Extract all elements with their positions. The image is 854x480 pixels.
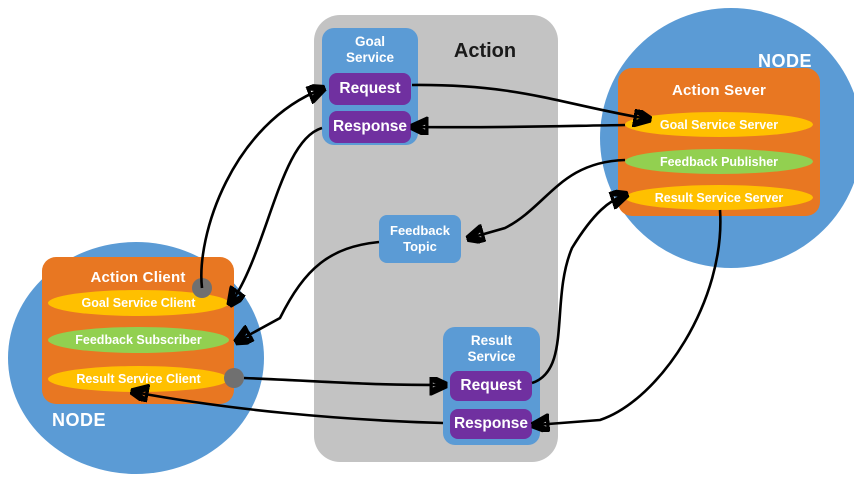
result-service-server-pill[interactable]: Result Service Server: [625, 185, 813, 210]
result-service-title: Result Service: [443, 333, 540, 365]
result-service-title-line2: Service: [467, 349, 515, 364]
feedback-topic-line2: Topic: [403, 239, 437, 255]
client-result-junction-dot: [224, 368, 244, 388]
client-node-label: NODE: [52, 410, 106, 431]
result-service-request[interactable]: Request: [450, 371, 532, 401]
feedback-topic-line1: Feedback: [390, 223, 450, 239]
goal-service-server-pill[interactable]: Goal Service Server: [625, 112, 813, 137]
goal-service-title-line2: Service: [346, 50, 394, 65]
goal-service-title-line1: Goal: [355, 34, 385, 49]
result-service-client-pill[interactable]: Result Service Client: [48, 366, 229, 392]
action-server-title: Action Sever: [618, 82, 820, 99]
client-goal-junction-dot: [192, 278, 212, 298]
result-service-response[interactable]: Response: [450, 409, 532, 439]
feedback-publisher-pill[interactable]: Feedback Publisher: [625, 149, 813, 174]
feedback-subscriber-pill[interactable]: Feedback Subscriber: [48, 327, 229, 353]
action-panel-title: Action: [425, 40, 545, 63]
result-service-title-line1: Result: [471, 333, 512, 348]
goal-service-response[interactable]: Response: [329, 111, 411, 143]
diagram-canvas: Action Goal Service Request Response Fee…: [0, 0, 854, 480]
arrow-goal-response-to-client: [231, 128, 322, 303]
feedback-topic-box[interactable]: Feedback Topic: [379, 215, 461, 263]
goal-service-request[interactable]: Request: [329, 73, 411, 105]
goal-service-title: Goal Service: [322, 34, 418, 66]
